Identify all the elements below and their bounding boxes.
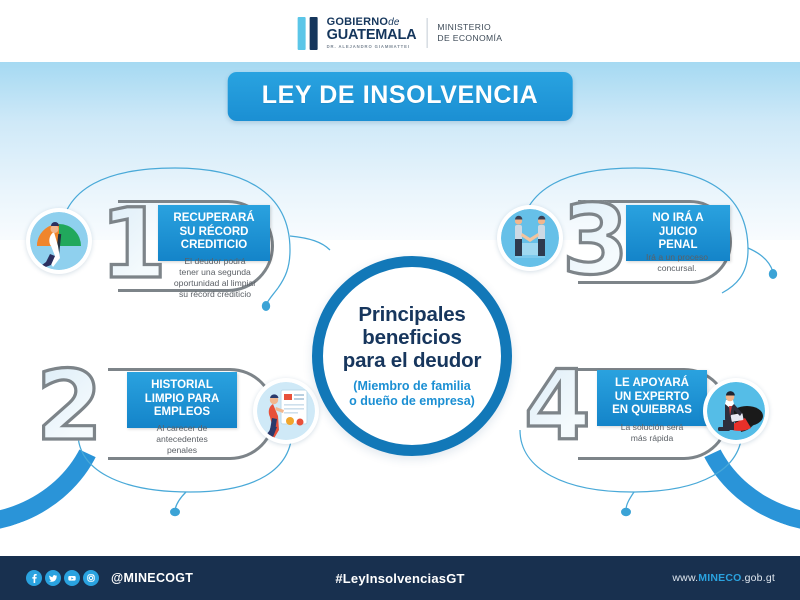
benefit-4-body-line2: más rápida: [592, 433, 712, 444]
benefit-2-heading-line2: LIMPIO PARA: [139, 393, 225, 407]
benefit-3-heading-line2: JUICIO PENAL: [638, 226, 718, 253]
benefit-1-body-line4: su récord crediticio: [152, 289, 278, 300]
instagram-icon[interactable]: [83, 570, 99, 586]
expert-piechart-icon: [703, 378, 769, 444]
benefit-1-heading-line1: RECUPERARÁ: [170, 212, 258, 226]
website-url[interactable]: www.MINECO.gob.gt: [672, 572, 775, 584]
benefit-1-heading-line2: SU RÉCORD: [170, 226, 258, 240]
logo-bars-icon: [298, 17, 318, 50]
page-header: GOBIERNOde GUATEMALA DR. ALEJANDRO GIAMM…: [0, 0, 800, 62]
benefit-3-heading-line1: NO IRÁ A: [638, 212, 718, 226]
center-sub-line1: (Miembro de familia: [349, 379, 475, 394]
benefit-2-body-line3: penales: [122, 445, 242, 456]
url-suffix: .gob.gt: [741, 572, 775, 584]
logo-gobierno-line: GOBIERNOde: [327, 17, 417, 28]
benefit-3-body-line2: concursal.: [622, 263, 732, 274]
benefit-4-heading-line1: LE APOYARÁ: [609, 377, 695, 391]
benefit-2-body: Al carecer de antecedentes penales: [122, 423, 242, 456]
benefit-1-body-line1: El deudor podrá: [152, 256, 278, 267]
benefit-2-body-line1: Al carecer de: [122, 423, 242, 434]
url-brand: MINECO: [698, 572, 741, 584]
center-sub-text: (Miembro de familia o dueño de empresa): [349, 379, 475, 409]
benefit-1-body-line2: tener una segunda: [152, 267, 278, 278]
center-main-text: Principales beneficios para el deudor: [343, 303, 481, 372]
expert-piechart-icon-art: [707, 382, 765, 440]
campaign-hashtag: #LeyInsolvenciasGT: [335, 571, 464, 586]
page-title: LEY DE INSOLVENCIA: [262, 81, 539, 109]
infographic-canvas: GOBIERNOde GUATEMALA DR. ALEJANDRO GIAMM…: [0, 0, 800, 600]
credit-gauge-icon: [26, 208, 92, 274]
twitter-icon[interactable]: [45, 570, 61, 586]
benefit-2-heading-line1: HISTORIAL: [139, 379, 225, 393]
ministry-line-1: MINISTERIO: [437, 22, 502, 33]
youtube-icon[interactable]: [64, 570, 80, 586]
benefit-2-body-line2: antecedentes: [122, 434, 242, 445]
benefit-4-heading: LE APOYARÁ UN EXPERTO EN QUIEBRAS: [597, 370, 707, 426]
benefit-4-heading-line2: UN EXPERTO: [609, 391, 695, 405]
ministry-line-2: DE ECONOMÍA: [437, 33, 502, 44]
url-prefix: www.: [672, 572, 698, 584]
social-handle[interactable]: @MINECOGT: [111, 571, 193, 585]
records-board-icon: [253, 378, 319, 444]
facebook-icon[interactable]: [26, 570, 42, 586]
logo-text-block: GOBIERNOde GUATEMALA DR. ALEJANDRO GIAMM…: [327, 17, 417, 50]
benefit-4-numeral: 4: [524, 358, 591, 454]
center-main-line3: para el deudor: [343, 349, 481, 372]
page-footer: @MINECOGT #LeyInsolvenciasGT www.MINECO.…: [0, 556, 800, 600]
benefit-2-heading-line3: EMPLEOS: [139, 406, 225, 420]
handshake-desk-icon: [497, 205, 563, 271]
page-title-banner: LEY DE INSOLVENCIA: [228, 72, 573, 121]
benefit-4-heading-line3: EN QUIEBRAS: [609, 404, 695, 418]
benefit-1-heading: RECUPERARÁ SU RÉCORD CREDITICIO: [158, 205, 270, 261]
benefit-2-numeral: 2: [36, 358, 103, 454]
center-main-line1: Principales: [343, 303, 481, 326]
handshake-desk-icon-art: [501, 209, 559, 267]
social-links[interactable]: @MINECOGT: [26, 570, 193, 586]
government-logo: GOBIERNOde GUATEMALA DR. ALEJANDRO GIAMM…: [298, 16, 503, 50]
benefit-3-body: Irá a un proceso concursal.: [622, 252, 732, 274]
benefit-4-body-line1: La solución será: [592, 422, 712, 433]
benefit-2-heading: HISTORIAL LIMPIO PARA EMPLEOS: [127, 372, 237, 428]
ministry-block: MINISTERIO DE ECONOMÍA: [437, 22, 502, 44]
benefit-1-body: El deudor podrá tener una segunda oportu…: [152, 256, 278, 300]
benefit-1-body-line3: oportunidad al limpiar: [152, 278, 278, 289]
logo-guatemala-line: GUATEMALA: [327, 28, 417, 43]
logo-president-line: DR. ALEJANDRO GIAMMATTEI: [327, 44, 417, 50]
benefit-3-numeral: 3: [562, 192, 629, 288]
benefit-4-body: La solución será más rápida: [592, 422, 712, 444]
benefit-3-body-line1: Irá a un proceso: [622, 252, 732, 263]
benefit-1-heading-line3: CREDITICIO: [170, 239, 258, 253]
center-main-line2: beneficios: [343, 326, 481, 349]
center-sub-line2: o dueño de empresa): [349, 394, 475, 409]
records-board-icon-art: [257, 382, 315, 440]
center-summary-circle: Principales beneficios para el deudor (M…: [312, 256, 512, 456]
credit-gauge-icon-art: [30, 212, 88, 270]
logo-divider: [426, 18, 427, 48]
